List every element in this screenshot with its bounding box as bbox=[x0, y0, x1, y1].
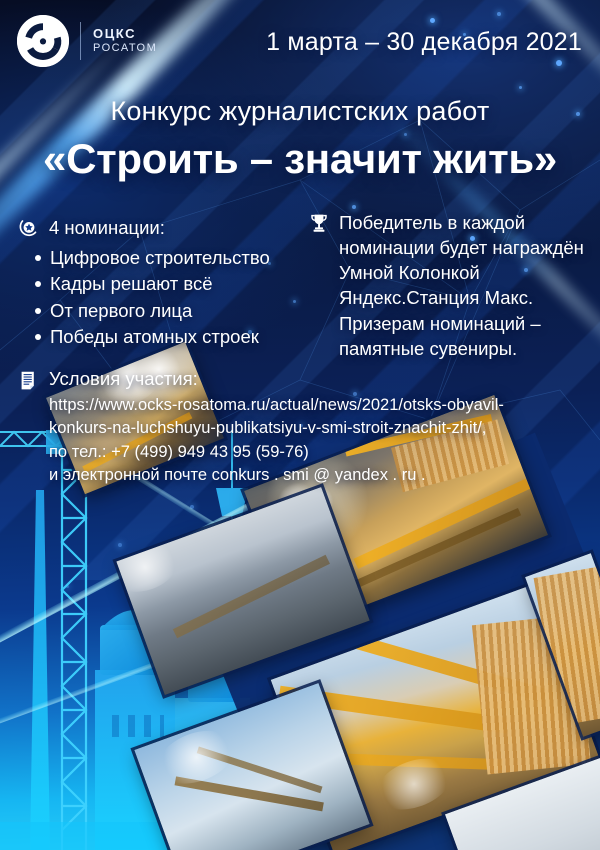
poster-subtitle: Конкурс журналистских работ bbox=[0, 96, 600, 127]
poster: ОЦКС РОСАТОМ 1 марта – 30 декабря 2021 К… bbox=[0, 0, 600, 850]
brand-logo: ОЦКС РОСАТОМ bbox=[16, 14, 157, 68]
conditions-phone-line: по тел.: +7 (499) 949 43 95 (59-76) bbox=[49, 441, 584, 464]
trophy-icon bbox=[308, 212, 330, 234]
award-rosette-icon bbox=[18, 218, 40, 240]
list-item: Цифровое строительство bbox=[50, 245, 318, 271]
logo-subtitle: РОСАТОМ bbox=[93, 42, 157, 56]
list-item: Кадры решают всё bbox=[50, 271, 318, 297]
document-icon bbox=[18, 370, 40, 392]
logo-title: ОЦКС bbox=[93, 26, 157, 42]
nominations-lead: 4 номинации: bbox=[49, 216, 165, 240]
conditions-heading: Условия участия: bbox=[49, 368, 198, 390]
construction-photo-collage bbox=[250, 450, 600, 850]
conditions-email-line: и электронной почте conkurs . smi @ yand… bbox=[49, 464, 584, 487]
prize-text: Победитель в каждой номинации будет нагр… bbox=[339, 210, 588, 361]
title-block: Конкурс журналистских работ «Строить – з… bbox=[0, 96, 600, 183]
conditions-details: https://www.ocks-rosatoma.ru/actual/news… bbox=[18, 394, 584, 488]
poster-header: ОЦКС РОСАТОМ 1 марта – 30 декабря 2021 bbox=[0, 0, 600, 82]
nominations-list: Цифровое строительство Кадры решают всё … bbox=[18, 245, 318, 350]
nominations-block: 4 номинации: Цифровое строительство Кадр… bbox=[18, 216, 318, 350]
poster-title: «Строить – значит жить» bbox=[0, 135, 600, 183]
logo-divider bbox=[80, 22, 81, 60]
rosatom-atom-icon bbox=[16, 14, 70, 68]
list-item: От первого лица bbox=[50, 298, 318, 324]
prize-block: Победитель в каждой номинации будет нагр… bbox=[308, 210, 588, 361]
conditions-url-line-1[interactable]: https://www.ocks-rosatoma.ru/actual/news… bbox=[49, 394, 584, 417]
conditions-block: Условия участия: https://www.ocks-rosato… bbox=[18, 368, 584, 488]
list-item: Победы атомных строек bbox=[50, 324, 318, 350]
date-range: 1 марта – 30 декабря 2021 bbox=[266, 28, 582, 57]
conditions-url-line-2[interactable]: konkurs-na-luchshuyu-publikatsiyu-v-smi-… bbox=[49, 417, 584, 440]
